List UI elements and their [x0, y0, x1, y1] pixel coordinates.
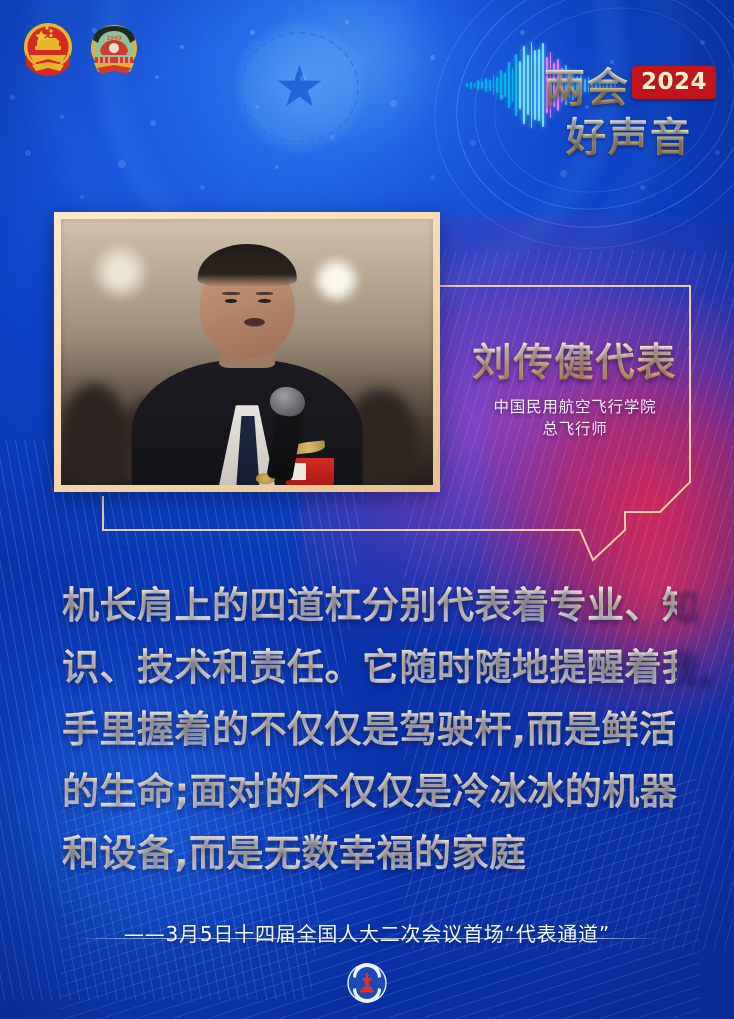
quote-line: 机长肩上的四道杠分别代表着专业、知: [62, 575, 677, 637]
campaign-logo: 两会 2024 好声音: [526, 52, 716, 162]
cppcc-emblem-icon: 1949: [88, 21, 140, 77]
speaker-affiliation-line2: 总飞行师: [440, 418, 710, 440]
quote-line: 手里握着的不仅仅是驾驶杆,而是鲜活: [62, 699, 677, 761]
emblem-group: 1949: [22, 21, 140, 77]
speaker-name: 刘传健代表: [440, 332, 710, 388]
speaker-photo: [61, 219, 433, 485]
speaker-affiliation: 中国民用航空飞行学院 总飞行师: [440, 396, 710, 441]
quote-line: 和设备,而是无数幸福的家庭: [62, 823, 677, 885]
speaker-photo-frame: [54, 212, 440, 492]
campaign-logo-line2: 好声音: [566, 105, 692, 163]
attribution-text: ——3月5日十四届全国人大二次会议首场“代表通道”: [0, 918, 734, 947]
campaign-year-badge: 2024: [632, 66, 716, 99]
speaker-portrait: [61, 219, 433, 485]
quote-line: 识、技术和责任。它随时随地提醒着我,: [62, 637, 677, 699]
quote-line: 的生命;面对的不仅仅是冷冰冰的机器: [62, 761, 677, 823]
footer-agency-logo-icon: [347, 963, 387, 1003]
quote-block: 机长肩上的四道杠分别代表着专业、知 识、技术和责任。它随时随地提醒着我, 手里握…: [62, 575, 677, 885]
speaker-affiliation-line1: 中国民用航空飞行学院: [440, 396, 710, 418]
poster-canvas: 1949 两会 2024 好声音: [0, 0, 734, 1019]
national-emblem-of-china-icon: [22, 21, 74, 77]
